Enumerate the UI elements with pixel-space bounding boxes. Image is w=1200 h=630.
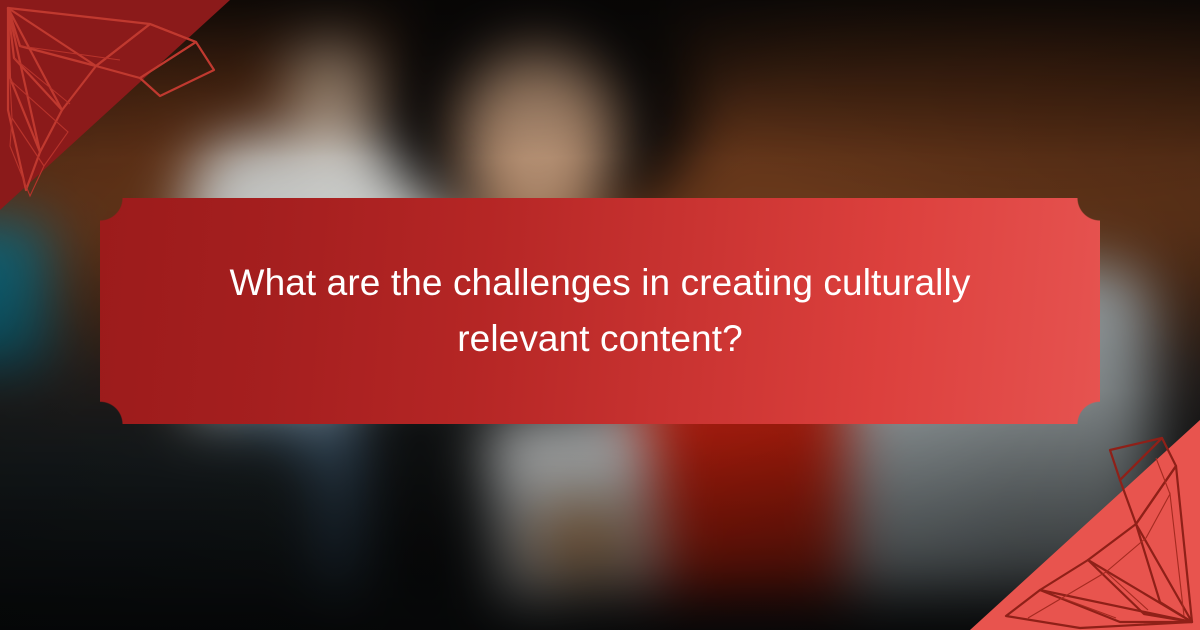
foreground-desk-blur xyxy=(0,426,324,630)
question-banner: What are the challenges in creating cult… xyxy=(100,198,1100,424)
question-card: What are the challenges in creating cult… xyxy=(0,0,1200,630)
hand-blur xyxy=(534,503,629,582)
teal-object-blur xyxy=(0,220,49,368)
question-text: What are the challenges in creating cult… xyxy=(210,255,990,367)
